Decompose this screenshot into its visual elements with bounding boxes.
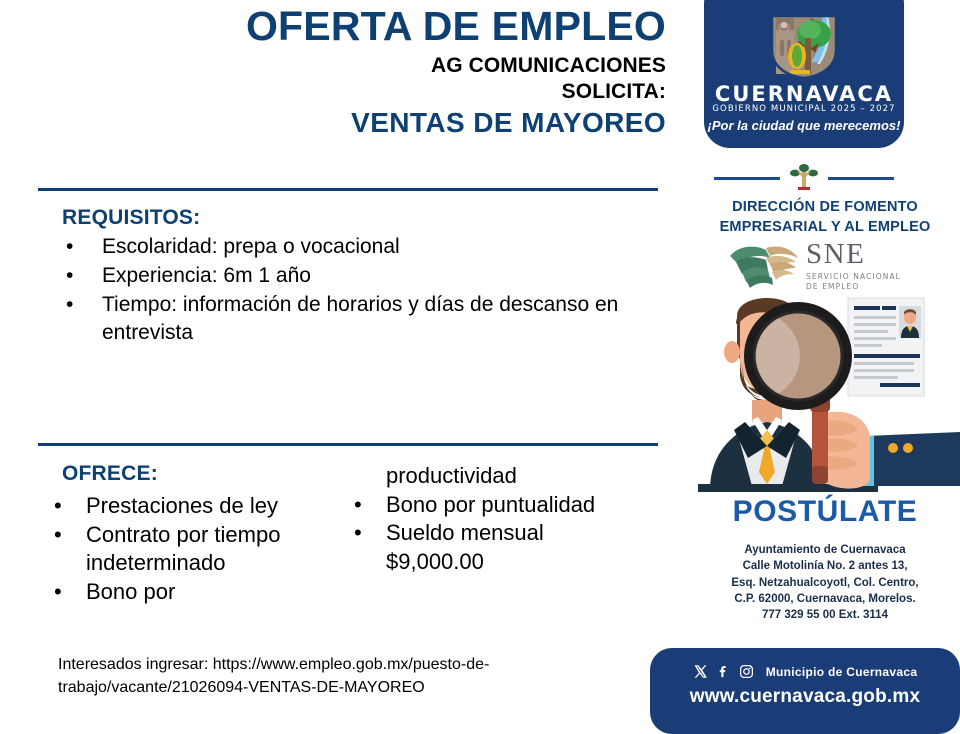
list-item-continuation: •indeterminado — [48, 549, 348, 578]
offers-list-left: •Prestaciones de ley •Contrato por tiemp… — [48, 492, 348, 606]
list-item: •Bono por — [48, 578, 348, 607]
ornament-line-right — [828, 177, 894, 180]
tree-icon — [788, 162, 820, 192]
phone-number: 777 329 55 00 Ext. 3114 — [690, 607, 960, 623]
divider-bottom — [38, 443, 658, 446]
city-slogan: ¡Por la ciudad que merecemos! — [704, 118, 904, 133]
ornament-line-left — [714, 177, 780, 180]
divider-top — [38, 188, 658, 191]
job-position-title: VENTAS DE MAYOREO — [30, 106, 666, 140]
list-item-label: Tiempo: información de horarios y días d… — [102, 293, 618, 344]
list-item: •Tiempo: información de horarios y días … — [62, 291, 642, 347]
bullet-icon: • — [66, 262, 73, 290]
tree-divider-ornament — [708, 162, 900, 192]
list-item-label: indeterminado — [86, 550, 225, 575]
bullet-icon: • — [354, 491, 362, 520]
bullet-icon: • — [66, 233, 73, 261]
department-title-line1: DIRECCIÓN DE FOMENTO — [690, 198, 960, 218]
bullet-icon: • — [54, 578, 62, 607]
offers-list-right: •productividad •Bono por puntualidad •Su… — [348, 462, 648, 576]
address-block: Ayuntamiento de Cuernavaca Calle Motolin… — [690, 542, 960, 624]
list-item: •Contrato por tiempo — [48, 521, 348, 550]
x-twitter-icon[interactable] — [693, 664, 708, 679]
cta-postulate: POSTÚLATE — [690, 495, 960, 529]
application-link-note[interactable]: Interesados ingresar: https://www.empleo… — [58, 654, 618, 699]
list-item: •Escolaridad: prepa o vocacional — [62, 233, 642, 261]
poster-content-column: OFERTA DE EMPLEO AG COMUNICACIONES SOLIC… — [0, 0, 690, 720]
department-title: DIRECCIÓN DE FOMENTO EMPRESARIAL Y AL EM… — [690, 198, 960, 237]
address-line-2: Calle Motolinía No. 2 antes 13, — [690, 558, 960, 574]
list-item-label: Sueldo mensual — [386, 520, 544, 545]
offers-heading: OFRECE: — [62, 462, 158, 486]
requirements-heading: REQUISITOS: — [62, 206, 642, 230]
list-item-label: Escolaridad: prepa o vocacional — [102, 235, 400, 258]
list-item-label: Bono por — [86, 579, 175, 604]
offers-column-right: •productividad •Bono por puntualidad •Su… — [348, 462, 648, 576]
list-item-continuation: •$9,000.00 — [348, 548, 648, 577]
branding-column: CUERNAVACA GOBIERNO MUNICIPAL 2025 – 202… — [690, 0, 960, 720]
list-item-label: productividad — [386, 463, 517, 488]
social-row: Municipio de Cuernavaca — [650, 664, 960, 679]
social-handle: Municipio de Cuernavaca — [766, 665, 918, 679]
facebook-icon[interactable] — [716, 664, 731, 679]
bullet-icon: • — [66, 291, 73, 319]
company-name: AG COMUNICACIONES — [30, 53, 666, 79]
requirements-list: •Escolaridad: prepa o vocacional •Experi… — [62, 233, 642, 347]
page-title: OFERTA DE EMPLEO — [30, 4, 666, 50]
bullet-icon: • — [354, 519, 362, 548]
cv-document-icon — [848, 298, 924, 396]
list-item: •Experiencia: 6m 1 año — [62, 262, 642, 290]
sne-acronym: SNE — [806, 240, 901, 269]
address-line-1: Ayuntamiento de Cuernavaca — [690, 542, 960, 558]
bullet-icon: • — [54, 492, 62, 521]
list-item-continuation: •productividad — [348, 462, 648, 491]
instagram-icon[interactable] — [739, 664, 754, 679]
solicita-label: SOLICITA: — [30, 79, 666, 105]
list-item: •Prestaciones de ley — [48, 492, 348, 521]
list-item-label: Prestaciones de ley — [86, 493, 278, 518]
address-line-4: C.P. 62000, Cuernavaca, Morelos. — [690, 591, 960, 607]
cuernavaca-logo-card: CUERNAVACA GOBIERNO MUNICIPAL 2025 – 202… — [704, 0, 904, 148]
website-url[interactable]: www.cuernavaca.gob.mx — [650, 686, 960, 708]
government-period: GOBIERNO MUNICIPAL 2025 – 2027 — [704, 104, 904, 114]
list-item: •Sueldo mensual — [348, 519, 648, 548]
list-item-label: Experiencia: 6m 1 año — [102, 264, 311, 287]
list-item-label: $9,000.00 — [386, 549, 484, 574]
list-item-label: Bono por puntualidad — [386, 492, 595, 517]
bullet-icon: • — [54, 521, 62, 550]
requirements-section: REQUISITOS: •Escolaridad: prepa o vocaci… — [62, 206, 642, 348]
list-item-label: Contrato por tiempo — [86, 522, 280, 547]
header-block: OFERTA DE EMPLEO AG COMUNICACIONES SOLIC… — [30, 4, 666, 140]
footer-social-card: Municipio de Cuernavaca www.cuernavaca.g… — [650, 648, 960, 734]
job-seeker-illustration — [690, 280, 960, 510]
offers-columns: •Prestaciones de ley •Contrato por tiemp… — [48, 462, 658, 622]
list-item: •Bono por puntualidad — [348, 491, 648, 520]
city-name: CUERNAVACA — [704, 82, 904, 106]
address-line-3: Esq. Netzahualcoyotl, Col. Centro, — [690, 575, 960, 591]
cuernavaca-coat-of-arms-icon — [770, 16, 838, 78]
department-title-line2: EMPRESARIAL Y AL EMPLEO — [690, 218, 960, 238]
